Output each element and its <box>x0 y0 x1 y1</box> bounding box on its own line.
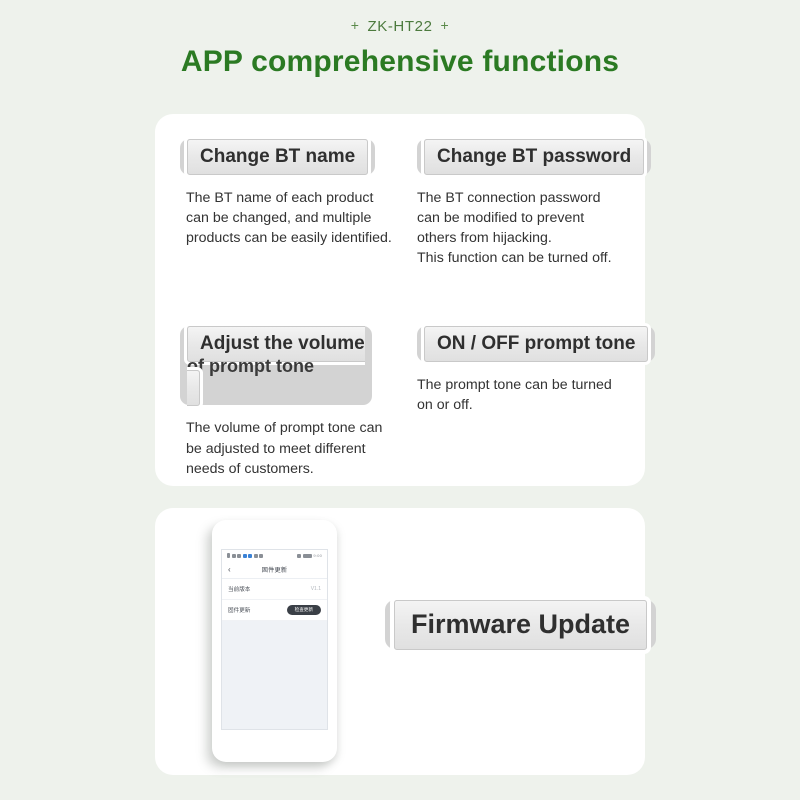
feature-change-bt-name: Change BT name The BT name of each produ… <box>180 139 395 248</box>
page-title: APP comprehensive functions <box>0 45 800 79</box>
features-panel: Change BT name The BT name of each produ… <box>155 114 645 486</box>
alarm-icon <box>232 554 236 558</box>
chip-wrap: Adjust the volumeof prompt tone <box>180 326 395 407</box>
signal-bars-icon <box>297 554 301 558</box>
adjust-volume-label-line2: of prompt tone <box>187 356 365 377</box>
phone-status-bar: 9:00 <box>222 550 327 561</box>
change-bt-name-label: Change BT name <box>187 139 368 175</box>
phone-mockup: 9:00 ‹ 固件更新 当前版本 V1.1 固件更新 检查更新 <box>212 520 337 762</box>
check-update-button[interactable]: 检查更新 <box>287 605 321 616</box>
chip-wrap: Change BT password <box>417 139 632 177</box>
plus-left-icon: + <box>343 17 368 33</box>
sync-icon <box>254 554 258 558</box>
row-value: V1.1 <box>311 586 321 592</box>
row-label: 固件更新 <box>228 606 250 614</box>
feature-description: The prompt tone can be turned on or off. <box>417 375 632 415</box>
battery-icon <box>303 554 312 558</box>
bluetooth-icon <box>243 554 247 558</box>
adjust-volume-label-line1: Adjust the volume <box>200 333 365 354</box>
phone-nav-title: 固件更新 <box>222 565 327 574</box>
on-off-prompt-tone-button[interactable]: ON / OFF prompt tone <box>417 326 655 362</box>
adjust-volume-button[interactable]: Adjust the volumeof prompt tone <box>180 326 372 405</box>
dot-icon <box>259 554 263 558</box>
feature-on-off-prompt-tone: ON / OFF prompt tone The prompt tone can… <box>417 326 632 415</box>
change-bt-password-button[interactable]: Change BT password <box>417 139 651 175</box>
location-icon <box>248 554 252 558</box>
feature-change-bt-password: Change BT password The BT connection pas… <box>417 139 632 268</box>
model-name: ZK-HT22 <box>367 18 432 35</box>
phone-screen: 9:00 ‹ 固件更新 当前版本 V1.1 固件更新 检查更新 <box>221 549 328 730</box>
change-bt-password-label: Change BT password <box>424 139 644 175</box>
page-header: +ZK-HT22+ APP comprehensive functions <box>0 0 800 79</box>
chip-wrap: ON / OFF prompt tone <box>417 326 632 364</box>
signal-icon <box>227 553 230 558</box>
feature-description: The BT connection password can be modifi… <box>417 188 632 269</box>
status-left-icons <box>227 553 263 558</box>
status-clock: 9:00 <box>313 553 322 558</box>
change-bt-name-button[interactable]: Change BT name <box>180 139 375 175</box>
phone-nav-bar: ‹ 固件更新 <box>222 561 327 579</box>
plus-right-icon: + <box>433 17 458 33</box>
feature-description: The volume of prompt tone can be adjuste… <box>186 418 395 478</box>
on-off-prompt-tone-label: ON / OFF prompt tone <box>424 326 648 362</box>
chip-wrap: Change BT name <box>180 139 395 177</box>
feature-description: The BT name of each product can be chang… <box>186 188 395 248</box>
status-right-icons: 9:00 <box>297 553 322 558</box>
wifi-icon <box>237 554 241 558</box>
model-line: +ZK-HT22+ <box>0 16 800 36</box>
firmware-update-button[interactable]: Firmware Update <box>385 600 656 649</box>
phone-screen-body <box>222 621 327 730</box>
list-item-current-version[interactable]: 当前版本 V1.1 <box>222 579 327 600</box>
adjust-volume-label-wrap: Adjust the volumeof prompt tone <box>187 326 365 406</box>
firmware-update-label: Firmware Update <box>394 600 647 650</box>
row-label: 当前版本 <box>228 585 250 593</box>
firmware-update-chip: Firmware Update <box>385 600 656 649</box>
feature-adjust-volume: Adjust the volumeof prompt tone The volu… <box>180 326 395 479</box>
list-item-firmware-update[interactable]: 固件更新 检查更新 <box>222 600 327 621</box>
firmware-panel: 9:00 ‹ 固件更新 当前版本 V1.1 固件更新 检查更新 Firmware… <box>155 508 645 775</box>
